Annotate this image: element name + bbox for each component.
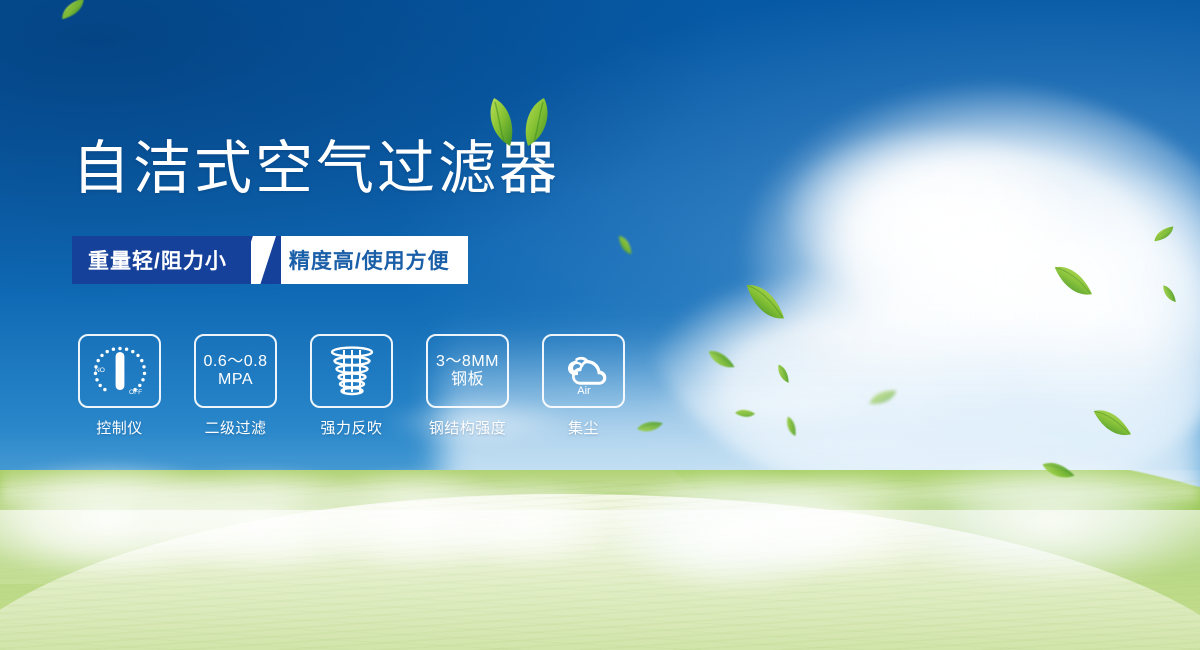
subtitle-divider	[251, 236, 281, 284]
cloud-wisp-right	[640, 380, 900, 430]
title-block: 自洁式空气过滤器	[72, 140, 560, 198]
subtitle-left: 重量轻/阻力小	[72, 236, 251, 284]
feature-label: 钢结构强度	[429, 417, 507, 438]
feature-icon-box: NO OFF	[78, 334, 161, 408]
subtitle-bar: 重量轻/阻力小 精度高/使用方便	[72, 236, 468, 284]
filter-cartridge-icon	[322, 342, 382, 400]
sprout-leaves-icon	[480, 96, 558, 148]
feature-icon-box: Air	[542, 334, 625, 408]
feature-list: NO OFF 控制仪 0.6～0.8 MPA 二级过滤	[78, 334, 625, 438]
feature-item-dust-collection[interactable]: Air 集尘	[542, 334, 625, 438]
steel-material: 钢板	[436, 371, 499, 389]
feature-label: 控制仪	[96, 417, 143, 438]
feature-item-steel-strength[interactable]: 3～8MM 钢板 钢结构强度	[426, 334, 509, 438]
cloud-horizon-4	[430, 480, 620, 570]
subtitle-right: 精度高/使用方便	[281, 236, 468, 284]
gauge-on-label: NO	[95, 367, 105, 374]
product-banner: 自洁式空气过滤器 重量轻/阻力小 精度高/使用方便	[0, 0, 1200, 650]
gauge-dial-icon: NO OFF	[90, 342, 150, 400]
air-label: Air	[577, 385, 591, 397]
feature-item-pulse-blowback[interactable]: 强力反吹	[310, 334, 393, 438]
feature-label: 强力反吹	[320, 417, 382, 438]
feature-item-controller[interactable]: NO OFF 控制仪	[78, 334, 161, 438]
cloud-horizon-7	[880, 440, 1200, 590]
feature-label: 二级过滤	[204, 417, 266, 438]
feature-item-two-stage-filter[interactable]: 0.6～0.8 MPA 二级过滤	[194, 334, 277, 438]
pressure-range: 0.6～0.8	[204, 353, 268, 371]
air-cloud-icon: Air	[554, 342, 614, 400]
page-title: 自洁式空气过滤器	[72, 140, 560, 198]
pressure-unit: MPA	[204, 371, 268, 389]
feature-icon-box: 3～8MM 钢板	[426, 334, 509, 408]
steel-plate-text-icon: 3～8MM 钢板	[436, 353, 499, 389]
pressure-text-icon: 0.6～0.8 MPA	[204, 353, 268, 389]
feature-label: 集尘	[568, 417, 599, 438]
steel-thickness: 3～8MM	[436, 353, 499, 371]
feature-icon-box	[310, 334, 393, 408]
gauge-off-label: OFF	[129, 389, 142, 396]
feature-icon-box: 0.6～0.8 MPA	[194, 334, 277, 408]
